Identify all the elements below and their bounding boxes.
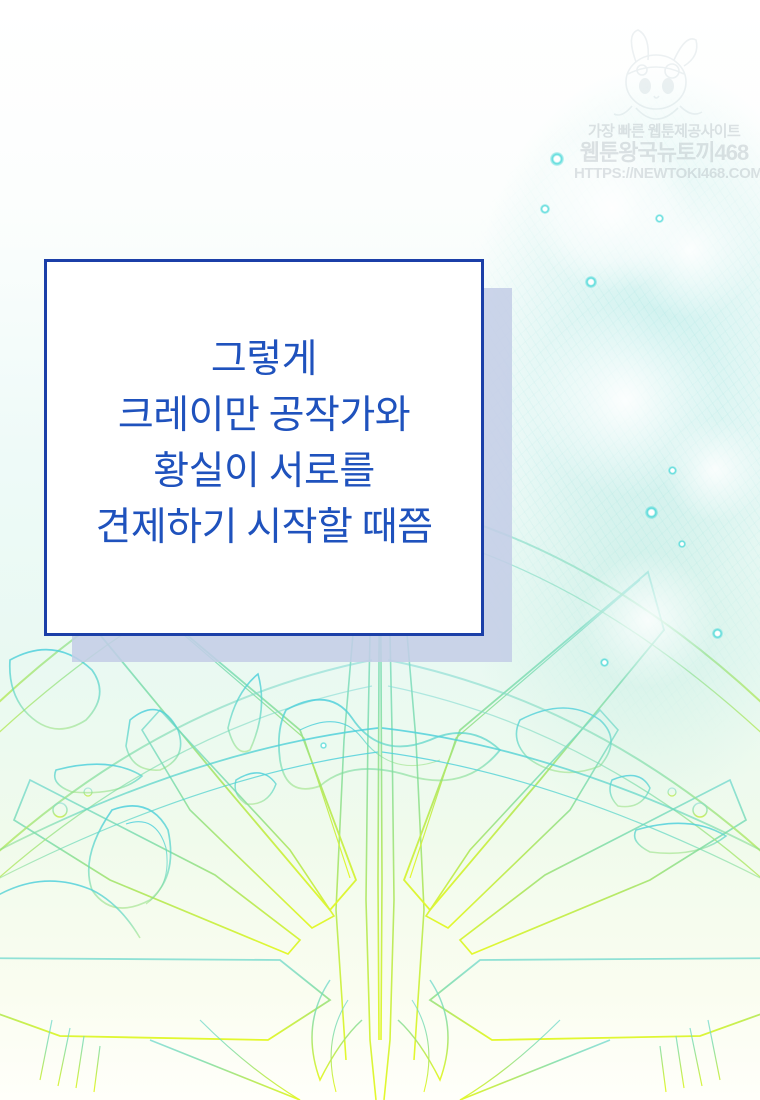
sparkle-icon — [668, 466, 677, 475]
sparkle-icon — [712, 628, 723, 639]
sparkle-icon — [550, 152, 564, 166]
rabbit-mascot-icon — [592, 26, 720, 144]
sparkle-icon — [600, 658, 609, 667]
sparkle-icon — [320, 742, 327, 749]
sparkle-icon — [678, 540, 686, 548]
sparkle-icon — [645, 506, 658, 519]
watermark-line-2: 웹툰왕국뉴토끼468 — [574, 141, 754, 164]
caption-card: 그렇게 크레이만 공작가와 황실이 서로를 견제하기 시작할 때쯤 — [44, 259, 484, 636]
sparkle-icon — [540, 204, 550, 214]
comic-panel: 그렇게 크레이만 공작가와 황실이 서로를 견제하기 시작할 때쯤 가장 — [0, 0, 760, 1100]
caption-text: 그렇게 크레이만 공작가와 황실이 서로를 견제하기 시작할 때쯤 — [96, 332, 433, 564]
watermark-line-3: HTTPS://NEWTOKI468.COM — [574, 166, 754, 182]
sparkle-icon — [655, 214, 664, 223]
sparkle-icon — [585, 276, 597, 288]
